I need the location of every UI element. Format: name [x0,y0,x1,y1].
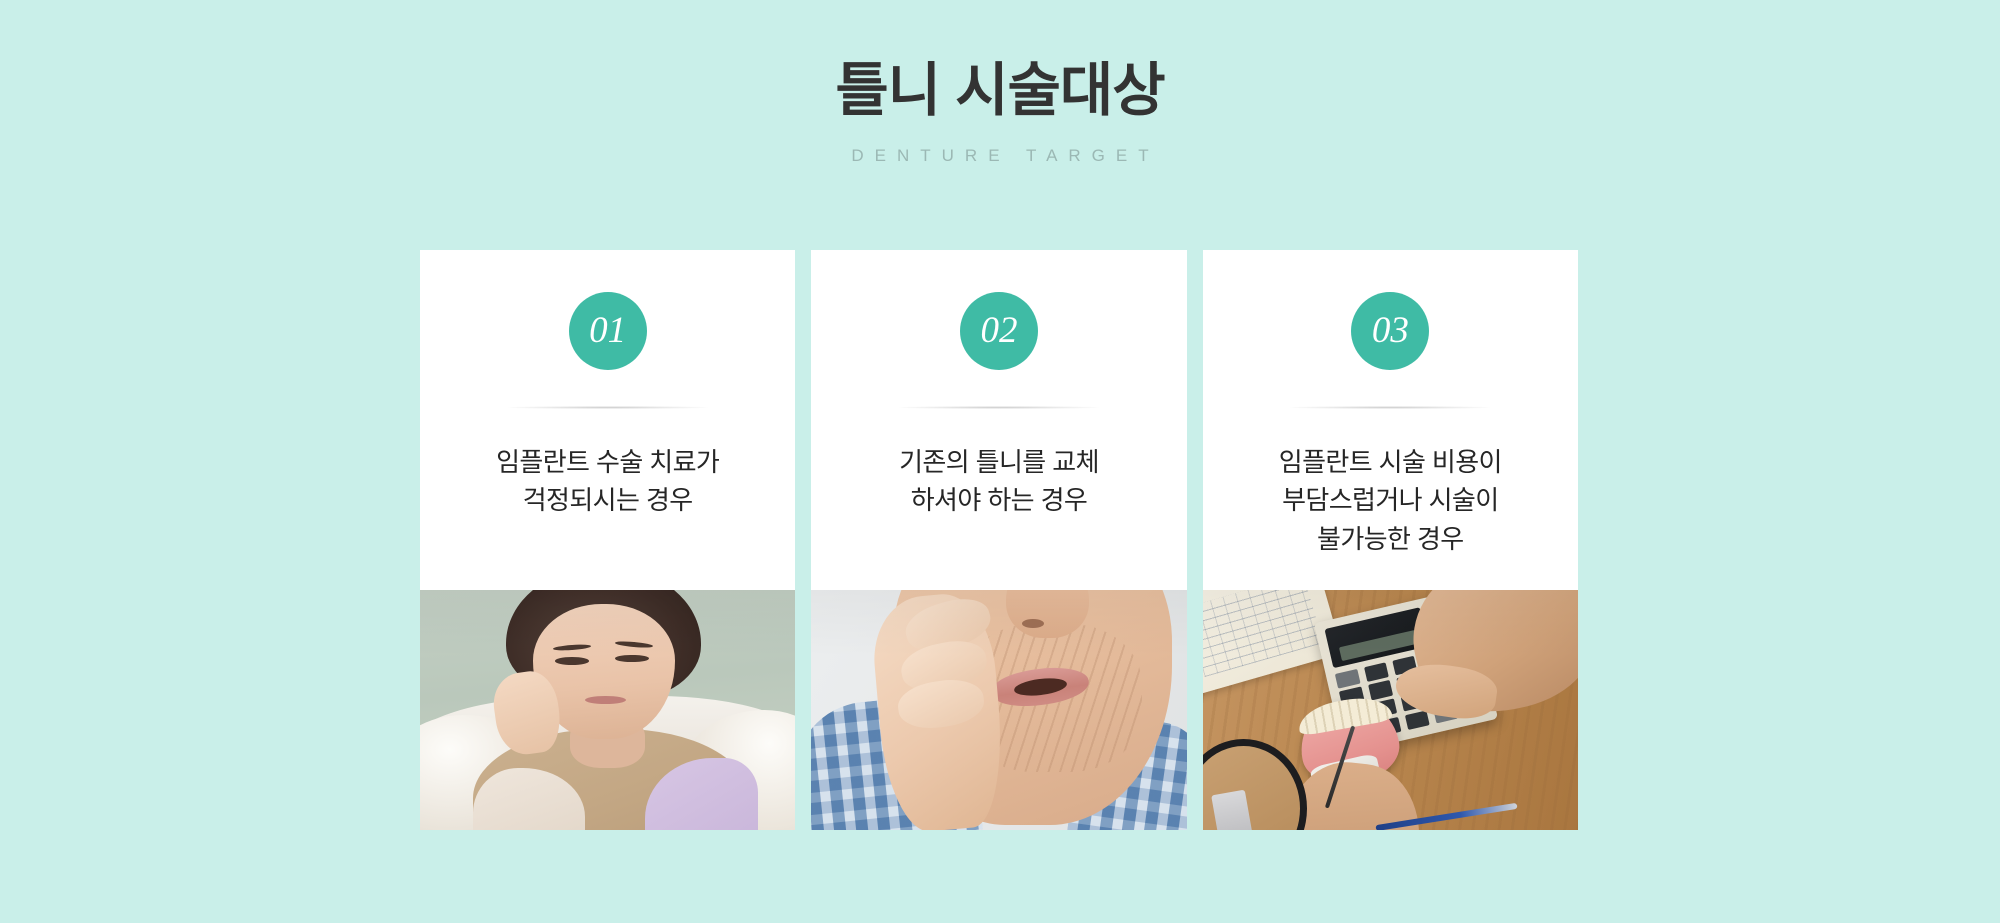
card-01-divider [508,406,708,409]
section-heading: 틀니 시술대상 DENTURE TARGET [0,58,2000,164]
card-01-description: 임플란트 수술 치료가 걱정되시는 경우 [482,443,733,520]
calculator-key [1367,681,1392,701]
card-03-description: 임플란트 시술 비용이 부담스럽거나 시술이 불가능한 경우 [1265,443,1516,558]
card-01-top: 01 임플란트 수술 치료가 걱정되시는 경우 [420,250,795,590]
hand-on-calculator [1398,590,1578,730]
card-03-divider [1290,406,1490,409]
target-card-03[interactable]: 03 임플란트 시술 비용이 부담스럽거나 시술이 불가능한 경우 [1203,250,1578,830]
denture-cost-calculator-photo [1203,590,1578,830]
card-02-number-badge: 02 [960,292,1038,370]
jaw-pain-elderly-woman-photo [811,590,1186,830]
target-cards-row: 01 임플란트 수술 치료가 걱정되시는 경우 [420,250,1578,830]
calculator-key [1404,711,1429,731]
denture-target-section: 틀니 시술대상 DENTURE TARGET 01 임플란트 수술 치료가 걱정… [0,0,2000,923]
card-02-description: 기존의 틀니를 교체 하셔야 하는 경우 [885,443,1113,520]
card-01-number-badge: 01 [569,292,647,370]
badge-number-label: 02 [980,312,1017,349]
card-03-top: 03 임플란트 시술 비용이 부담스럽거나 시술이 불가능한 경우 [1203,250,1578,590]
card-02-divider [899,406,1099,409]
worried-elderly-woman-photo [420,590,795,830]
card-02-top: 02 기존의 틀니를 교체 하셔야 하는 경우 [811,250,1186,590]
section-subtitle: DENTURE TARGET [0,147,2000,164]
paper-grid-lines [1203,590,1323,677]
badge-number-label: 01 [589,312,626,349]
calculator-key [1363,663,1388,683]
target-card-01[interactable]: 01 임플란트 수술 치료가 걱정되시는 경우 [420,250,795,830]
page-title: 틀니 시술대상 [0,58,2000,125]
card-03-number-badge: 03 [1351,292,1429,370]
target-card-02[interactable]: 02 기존의 틀니를 교체 하셔야 하는 경우 [811,250,1186,830]
badge-number-label: 03 [1372,312,1409,349]
eye-left [555,657,589,665]
calculator-key [1335,669,1360,689]
mouth-shape [585,696,626,704]
